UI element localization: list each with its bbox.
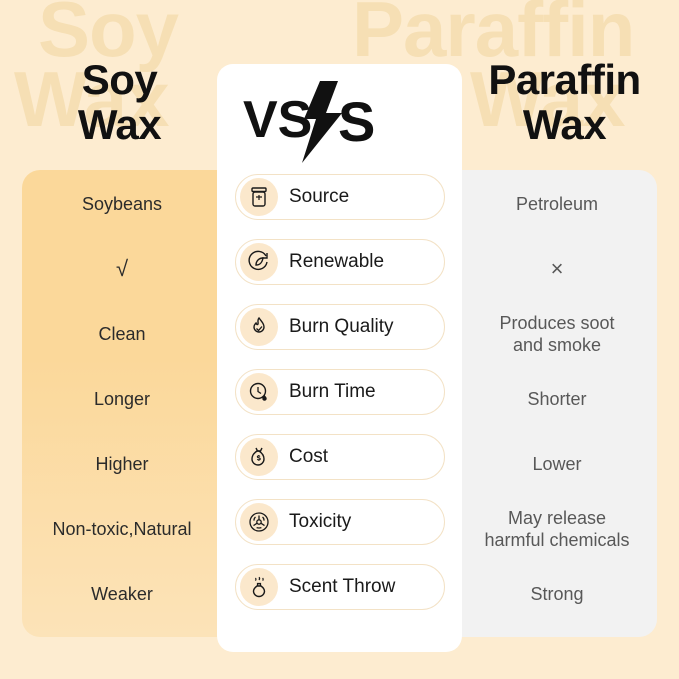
flame-check-icon [240,308,278,346]
right-title-line-1: Paraffin [452,57,677,102]
clock-flame-icon [240,373,278,411]
right-values-list: Petroleum × Produces sootand smoke Short… [457,170,657,637]
right-value-cell: Produces sootand smoke [457,311,657,357]
vs-badge: S VS [217,76,462,168]
feature-row-renewable[interactable]: Renewable [235,239,445,285]
right-value-cell: Strong [457,571,657,617]
feature-label: Toxicity [289,511,351,533]
svg-text:S: S [338,90,375,153]
feature-row-cost[interactable]: Cost [235,434,445,480]
jar-icon [240,178,278,216]
left-value-cell: Non-toxic,Natural [22,506,222,552]
feature-row-source[interactable]: Source [235,174,445,220]
biohazard-icon [240,503,278,541]
feature-row-burn-time[interactable]: Burn Time [235,369,445,415]
left-column-title: Soy Wax [12,57,227,148]
check-symbol: √ [116,255,128,283]
left-value-cell: Longer [22,376,222,422]
feature-row-burn-quality[interactable]: Burn Quality [235,304,445,350]
center-feature-card: S VS Source [217,64,462,652]
leaf-recycle-icon [240,243,278,281]
left-value-cell: Soybeans [22,181,222,227]
feature-row-scent-throw[interactable]: Scent Throw [235,564,445,610]
feature-label: Cost [289,446,328,468]
left-title-line-1: Soy [12,57,227,102]
feature-label: Source [289,186,349,208]
left-value-cell: Higher [22,441,222,487]
scent-diffuser-icon [240,568,278,606]
feature-label: Burn Time [289,381,376,403]
left-value-cell: Weaker [22,571,222,617]
right-value-cell: Lower [457,441,657,487]
feature-label: Renewable [289,251,384,273]
left-values-list: Soybeans √ Clean Longer Higher Non-toxic… [22,170,222,637]
cross-symbol: × [551,255,564,283]
right-value-cell: × [457,246,657,292]
right-value-cell: May releaseharmful chemicals [457,506,657,552]
feature-label: Scent Throw [289,576,395,598]
vs-label: VS [243,90,312,150]
right-value-cell: Petroleum [457,181,657,227]
money-bag-icon [240,438,278,476]
feature-rows: Source Renewable [235,174,445,629]
left-title-line-2: Wax [12,102,227,147]
right-title-line-2: Wax [452,102,677,147]
feature-row-toxicity[interactable]: Toxicity [235,499,445,545]
right-column-title: Paraffin Wax [452,57,677,148]
left-value-cell: Clean [22,311,222,357]
left-value-cell: √ [22,246,222,292]
right-value-cell: Shorter [457,376,657,422]
comparison-infographic: Soy Wax Paraffin Wax Soy Wax Paraffin Wa… [0,0,679,679]
feature-label: Burn Quality [289,316,394,338]
